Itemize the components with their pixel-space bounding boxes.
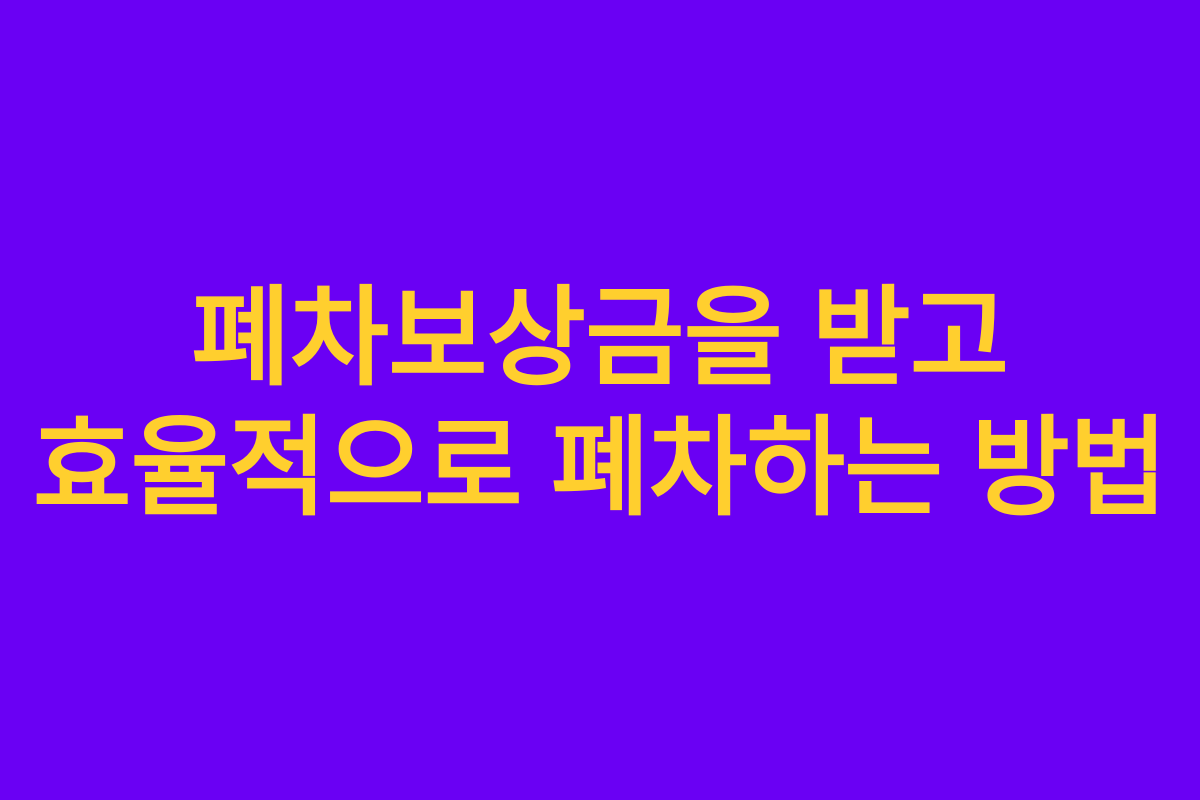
headline-line-2: 효율적으로 폐차하는 방법 — [33, 414, 1167, 522]
headline-block: 폐차보상금을 받고 효율적으로 폐차하는 방법 — [0, 284, 1200, 522]
headline-line-1: 폐차보상금을 받고 — [192, 284, 1009, 392]
banner-canvas: 폐차보상금을 받고 효율적으로 폐차하는 방법 — [0, 0, 1200, 800]
